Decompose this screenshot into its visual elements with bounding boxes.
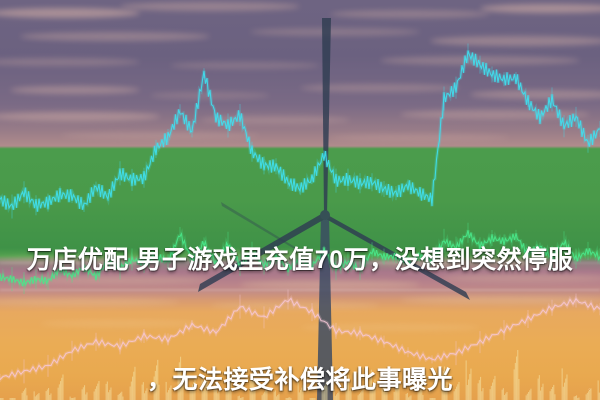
- headline-text: 万店优配 男子游戏里充值70万，没想到突然停服 ，无法接受补偿将此事曝光: [0, 160, 600, 400]
- headline-line-1: 万店优配 男子游戏里充值70万，没想到突然停服: [12, 240, 588, 280]
- thumbnail-canvas: 万店优配 男子游戏里充值70万，没想到突然停服 ，无法接受补偿将此事曝光 ◦: [0, 0, 600, 400]
- headline-line-2: ，无法接受补偿将此事曝光: [12, 360, 588, 400]
- corner-mark: ◦: [588, 386, 594, 394]
